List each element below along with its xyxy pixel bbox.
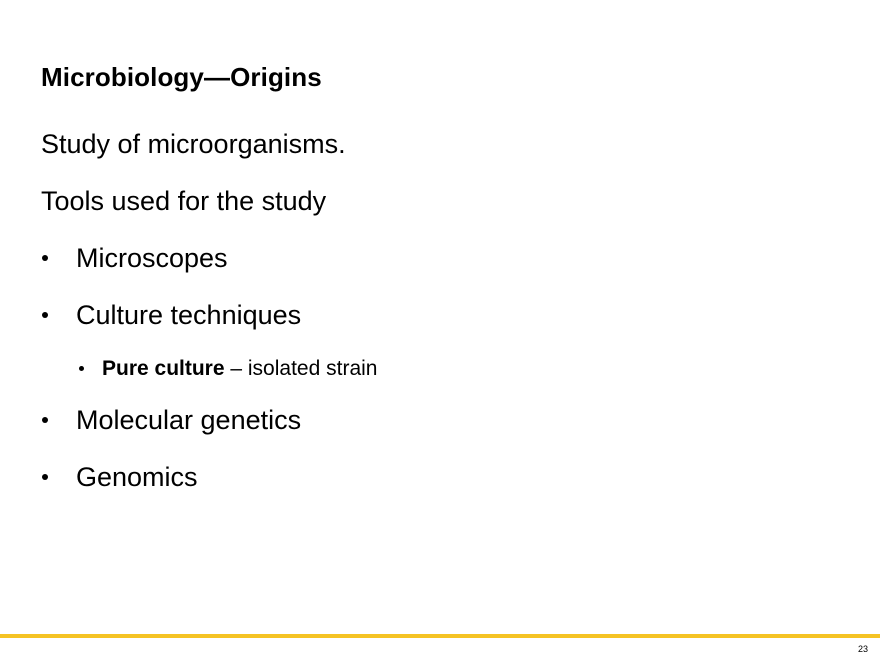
bullet-dot-icon [79,366,84,371]
sub-bullet-item-term: Pure culture [102,357,225,380]
bullet-item-label: Molecular genetics [76,405,301,435]
footer-divider [0,634,880,638]
page-number: 23 [858,643,868,655]
body-line-label: Study of microorganisms. [41,129,346,159]
bullet-dot-icon [42,474,48,480]
sub-bullet-item-pure-culture: Pure culture – isolated strain [0,356,880,404]
bullet-item-molecular-genetics: Molecular genetics [0,404,880,461]
body-line-study-of-microorganisms: Study of microorganisms. [0,128,880,185]
bullet-item-culture-techniques: Culture techniques [0,299,880,356]
sub-bullet-item-definition: – isolated strain [225,357,378,380]
slide-canvas: Microbiology—Origins Study of microorgan… [0,0,880,660]
bullet-item-label: Genomics [76,462,198,492]
bullet-dot-icon [42,255,48,261]
bullet-item-label: Culture techniques [76,300,301,330]
bullet-item-microscopes: Microscopes [0,242,880,299]
bullet-dot-icon [42,312,48,318]
bullet-item-label: Microscopes [76,243,228,273]
body-line-label: Tools used for the study [41,186,326,216]
bullet-dot-icon [42,417,48,423]
page-title: Microbiology—Origins [41,63,322,93]
bullet-item-genomics: Genomics [0,461,880,518]
slide-body: Study of microorganisms. Tools used for … [0,128,880,518]
body-line-tools-used-for-the-study: Tools used for the study [0,185,880,242]
